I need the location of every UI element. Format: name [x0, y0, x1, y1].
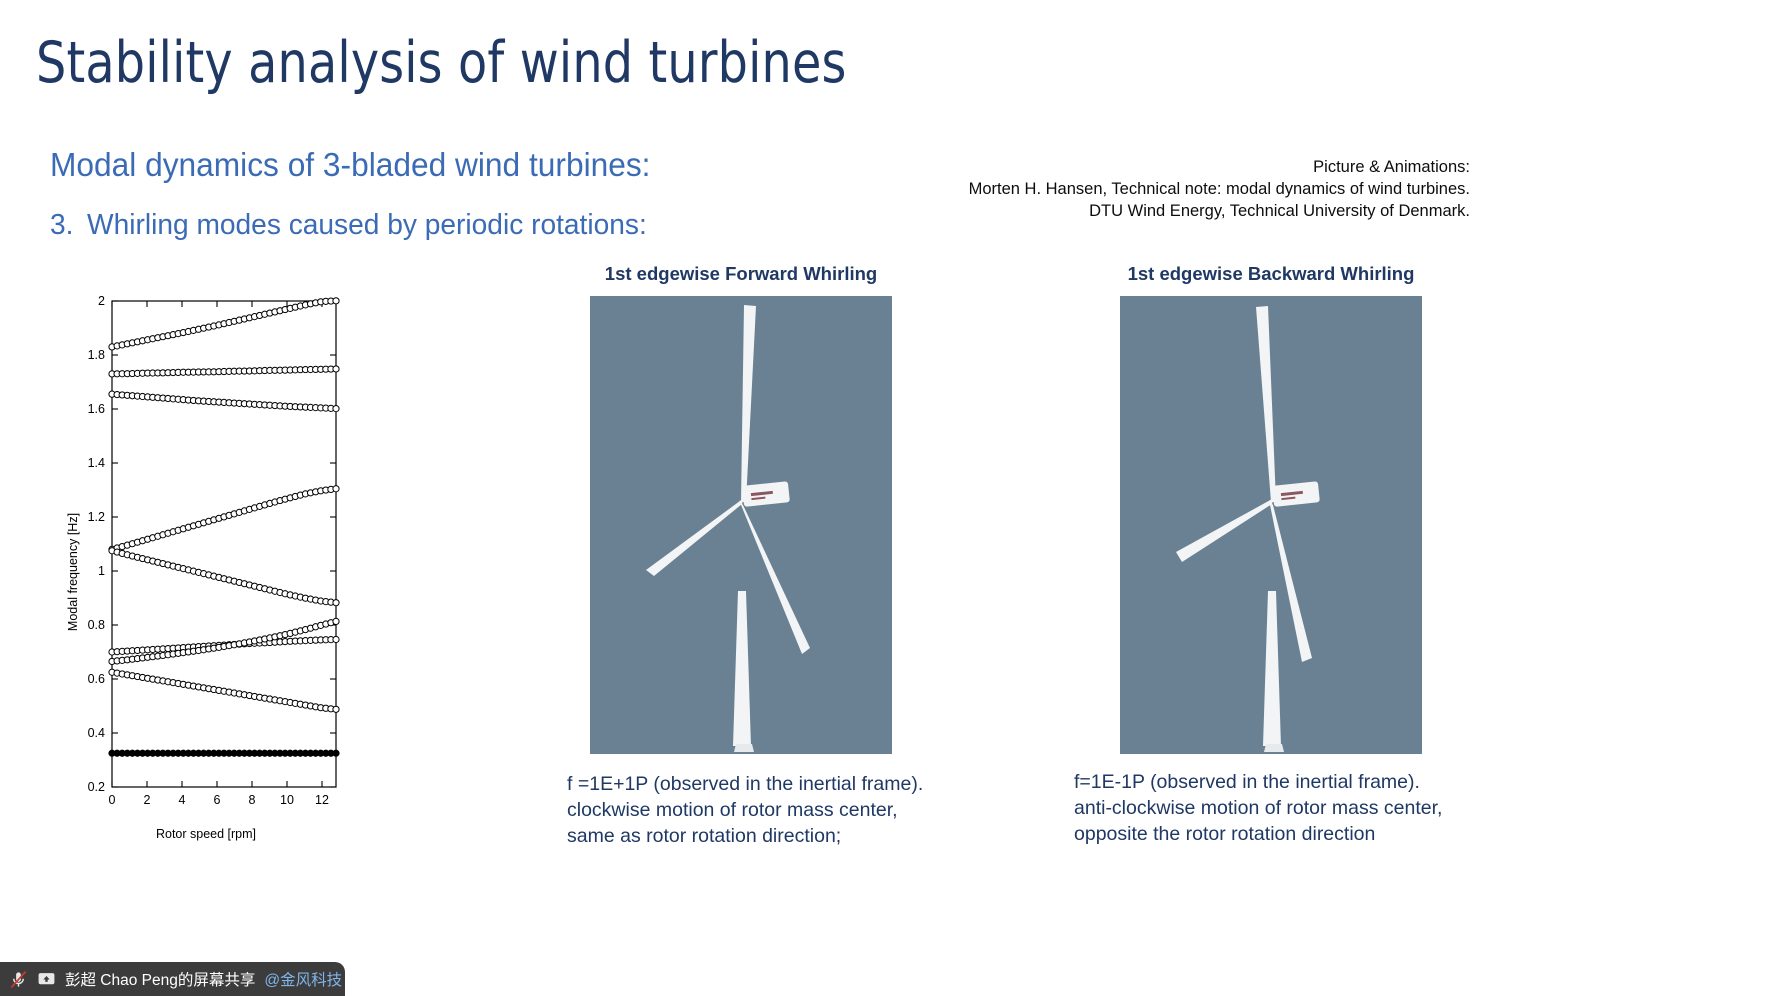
svg-text:0.8: 0.8 — [88, 618, 105, 632]
credit-line-1: Picture & Animations: — [710, 157, 1470, 179]
caption-backward-whirl: f=1E-1P (observed in the inertial frame)… — [1074, 770, 1544, 848]
microphone-muted-icon[interactable] — [9, 970, 28, 989]
bullet-label: Whirling modes caused by periodic rotati… — [87, 209, 647, 241]
turbine-animation-forward-whirl[interactable] — [590, 296, 892, 754]
svg-text:0.6: 0.6 — [88, 672, 105, 686]
caption-forward-whirl: f =1E+1P (observed in the inertial frame… — [567, 772, 1037, 850]
panel-heading-backward-whirl: 1st edgewise Backward Whirling — [1120, 263, 1422, 285]
svg-text:12: 12 — [315, 793, 329, 807]
screen-share-label: 彭超 Chao Peng的屏幕共享 — [65, 968, 255, 990]
svg-text:8: 8 — [249, 793, 256, 807]
credit-block: Picture & Animations: Morten H. Hansen, … — [710, 157, 1470, 223]
svg-text:0: 0 — [109, 793, 116, 807]
chart-x-axis-label: Rotor speed [rpm] — [70, 827, 342, 841]
turbine-animation-backward-whirl[interactable] — [1120, 296, 1422, 754]
screen-share-icon[interactable] — [37, 970, 56, 989]
chart-plot-area: 0.20.40.60.811.21.41.61.82024681012 — [70, 291, 342, 821]
svg-text:1.2: 1.2 — [88, 510, 105, 524]
svg-text:6: 6 — [214, 793, 221, 807]
svg-text:1.8: 1.8 — [88, 348, 105, 362]
svg-text:10: 10 — [280, 793, 294, 807]
credit-line-3: DTU Wind Energy, Technical University of… — [710, 201, 1470, 223]
slide-canvas: Stability analysis of wind turbines Moda… — [0, 0, 1768, 996]
svg-text:0.4: 0.4 — [88, 726, 105, 740]
screen-share-handle: @金风科技 — [264, 968, 342, 990]
credit-line-2: Morten H. Hansen, Technical note: modal … — [710, 179, 1470, 201]
svg-text:2: 2 — [144, 793, 151, 807]
screen-share-taskbar[interactable]: 彭超 Chao Peng的屏幕共享 @金风科技 — [0, 962, 345, 996]
chart-y-axis-label: Modal frequency [Hz] — [66, 291, 84, 853]
panel-heading-forward-whirl: 1st edgewise Forward Whirling — [590, 263, 892, 285]
svg-text:2: 2 — [98, 294, 105, 308]
svg-text:1: 1 — [98, 564, 105, 578]
svg-text:1.4: 1.4 — [88, 456, 105, 470]
subtitle: Modal dynamics of 3-bladed wind turbines… — [50, 146, 650, 184]
svg-text:1.6: 1.6 — [88, 402, 105, 416]
modal-frequency-chart: Modal frequency [Hz] 0.20.40.60.811.21.4… — [70, 291, 342, 853]
wind-turbine-icon — [1120, 296, 1422, 754]
wind-turbine-icon — [590, 296, 892, 754]
bullet-item-3: 3.Whirling modes caused by periodic rota… — [50, 209, 647, 242]
bullet-number: 3. — [50, 209, 73, 241]
svg-text:0.2: 0.2 — [88, 780, 105, 794]
page-title: Stability analysis of wind turbines — [36, 34, 847, 94]
svg-text:4: 4 — [179, 793, 186, 807]
